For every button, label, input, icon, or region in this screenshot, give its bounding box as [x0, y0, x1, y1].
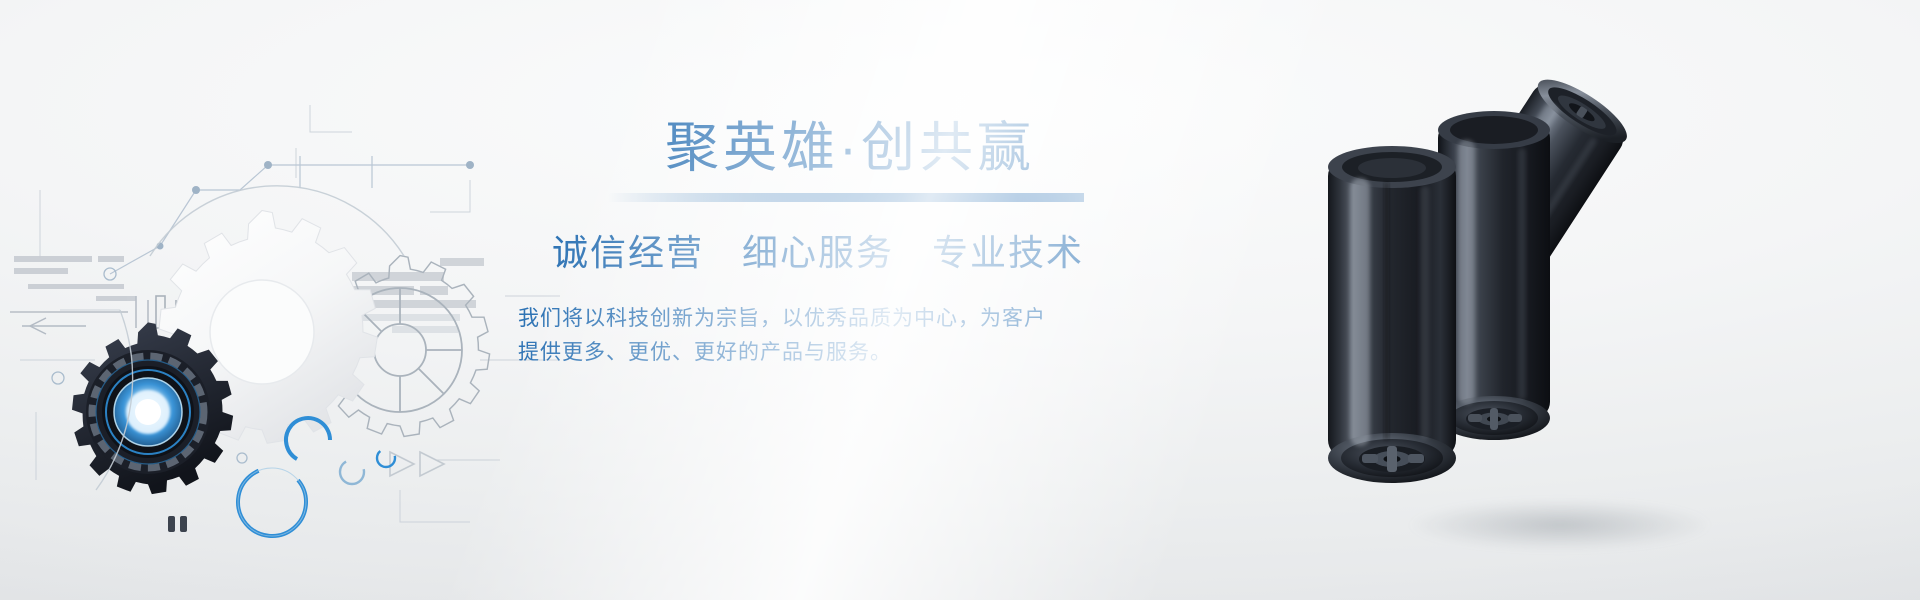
page-title: 聚英雄·创共赢 — [608, 120, 1092, 177]
title-underline-rule — [608, 193, 1084, 202]
description-line-1: 我们将以科技创新为宗旨，以优秀品质为中心，为客户 — [518, 302, 1074, 336]
conveyor-idler-rollers-image — [1310, 60, 1920, 560]
banner-description: 我们将以科技创新为宗旨，以优秀品质为中心，为客户 提供更多、更优、更好的产品与服… — [518, 302, 1074, 370]
slogan-row: 诚信经营细心服务专业技术 — [552, 224, 1092, 276]
description-line-2: 提供更多、更优、更好的产品与服务。 — [518, 336, 1074, 370]
technology-blueprint-graphic — [0, 60, 560, 540]
slogan-item-1: 诚信经营 — [552, 232, 704, 273]
banner-copy: 聚英雄·创共赢 诚信经营细心服务专业技术 我们将以科技创新为宗旨，以优秀品质为中… — [512, 120, 1092, 370]
hero-banner: 聚英雄·创共赢 诚信经营细心服务专业技术 我们将以科技创新为宗旨，以优秀品质为中… — [0, 0, 1920, 600]
slogan-item-3: 专业技术 — [932, 232, 1084, 273]
slogan-item-2: 细心服务 — [742, 232, 894, 273]
